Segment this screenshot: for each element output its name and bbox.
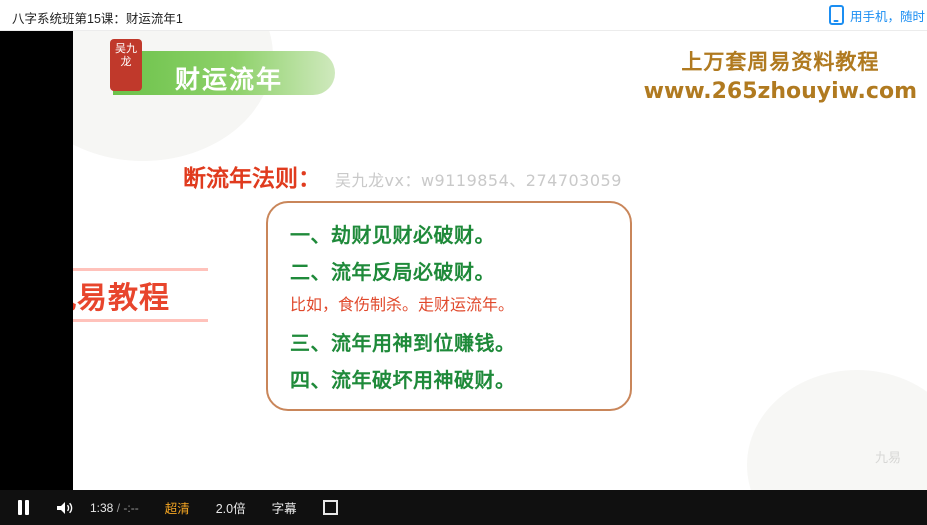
- watermark-right-line1: 上万套周易资料教程: [644, 46, 917, 76]
- fullscreen-button[interactable]: [323, 500, 338, 515]
- video-stage[interactable]: 吴九龙 财运流年 上万套周易资料教程 www.265zhouyiw.com 九易…: [73, 31, 927, 490]
- phone-icon: [829, 5, 844, 25]
- watermark-left: 九易教程: [73, 268, 208, 322]
- decorative-blob-bottom: [747, 370, 927, 490]
- rule-line: 三、流年用神到位赚钱。: [290, 327, 630, 356]
- time-display: 1:38 / -:--: [90, 501, 139, 515]
- stage-logo-watermark: 九易: [875, 447, 901, 466]
- rule-line: 二、流年反局必破财。: [290, 256, 630, 285]
- current-time: 1:38: [90, 501, 113, 515]
- subtitle-button[interactable]: 字幕: [272, 498, 297, 517]
- pause-icon: [17, 500, 30, 515]
- seal-stamp: 吴九龙: [110, 39, 142, 91]
- headline-main: 断流年法则：: [183, 159, 321, 193]
- topbar-right-group: 用手机，随时: [829, 5, 927, 25]
- fullscreen-icon-corner: [330, 507, 338, 515]
- volume-icon: [56, 500, 74, 516]
- watermark-right-line2: www.265zhouyiw.com: [644, 79, 917, 104]
- video-player[interactable]: 吴九龙 财运流年 上万套周易资料教程 www.265zhouyiw.com 九易…: [0, 31, 927, 525]
- slide-headline: 断流年法则： 吴九龙vx：w9119854、274703059: [183, 159, 622, 193]
- pause-button[interactable]: [0, 490, 46, 525]
- page-title: 八字系统班第15课：财运流年1: [12, 8, 183, 27]
- headline-contact: 吴九龙vx：w9119854、274703059: [335, 167, 622, 191]
- duration: -:--: [123, 501, 138, 515]
- rule-line: 四、流年破坏用神破财。: [290, 364, 630, 393]
- video-player-page: 八字系统班第15课：财运流年1 用手机，随时 吴九龙 财运流年 上万套周易资料教…: [0, 0, 927, 525]
- mobile-link[interactable]: 用手机，随时: [850, 6, 927, 25]
- player-controls: 1:38 / -:-- 超清 2.0倍 字幕: [0, 490, 927, 525]
- slide-title-ribbon: 吴九龙 财运流年: [113, 51, 335, 95]
- speed-selector[interactable]: 2.0倍: [216, 498, 246, 517]
- top-bar: 八字系统班第15课：财运流年1 用手机，随时: [0, 0, 927, 31]
- rule-note: 比如，食伤制杀。走财运流年。: [290, 291, 630, 315]
- quality-selector[interactable]: 超清: [165, 498, 190, 517]
- time-separator: /: [117, 501, 120, 515]
- volume-button[interactable]: [46, 490, 84, 525]
- slide-title: 财运流年: [175, 60, 283, 96]
- rule-line: 一、劫财见财必破财。: [290, 219, 630, 248]
- watermark-right: 上万套周易资料教程 www.265zhouyiw.com: [644, 46, 917, 104]
- rules-box: 一、劫财见财必破财。 二、流年反局必破财。 比如，食伤制杀。走财运流年。 三、流…: [266, 201, 632, 411]
